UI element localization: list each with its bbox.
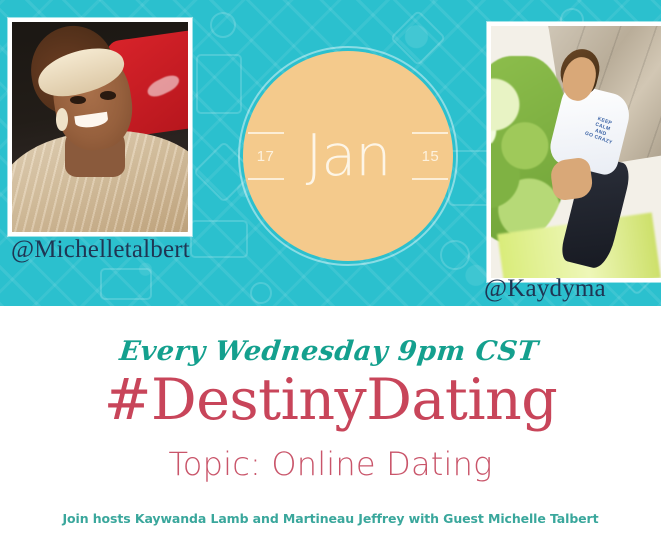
photo-left-michelle	[8, 18, 192, 236]
eye-left	[70, 96, 86, 104]
date-badge-row: 17 Jan 15	[243, 128, 453, 185]
photo-right-kaydyma: KEEP CALM AND GO CRAZY	[487, 22, 661, 282]
doodle-phone-icon	[196, 54, 242, 114]
date-day: 17	[246, 130, 286, 182]
eye-right	[100, 91, 116, 99]
date-month: Jan	[290, 128, 407, 185]
promo-text-panel: Every Wednesday 9pm CST #DestinyDating T…	[0, 306, 661, 556]
date-year: 15	[410, 130, 450, 182]
topic-text: Topic: Online Dating	[0, 445, 661, 483]
photo-left-content	[12, 22, 188, 232]
schedule-text: Every Wednesday 9pm CST	[0, 306, 661, 367]
date-badge: 17 Jan 15	[243, 51, 453, 261]
doodle-circle2-icon	[440, 240, 470, 270]
hosts-text: Join hosts Kaywanda Lamb and Martineau J…	[0, 511, 661, 526]
doodle-circle-icon	[210, 12, 236, 38]
handle-left: @Michelletalbert	[11, 236, 190, 264]
handle-right: @Kaydyma	[484, 275, 606, 303]
doodle-small-circle-icon	[250, 282, 272, 304]
doodle-bar-icon	[100, 268, 152, 300]
hashtag-title: #DestinyDating	[0, 369, 661, 433]
doodle-screen-icon	[190, 220, 248, 258]
photo-right-content: KEEP CALM AND GO CRAZY	[491, 26, 661, 278]
teal-header-band: KEEP CALM AND GO CRAZY 17 Jan 15	[0, 0, 661, 306]
promo-poster: KEEP CALM AND GO CRAZY 17 Jan 15	[0, 0, 661, 556]
